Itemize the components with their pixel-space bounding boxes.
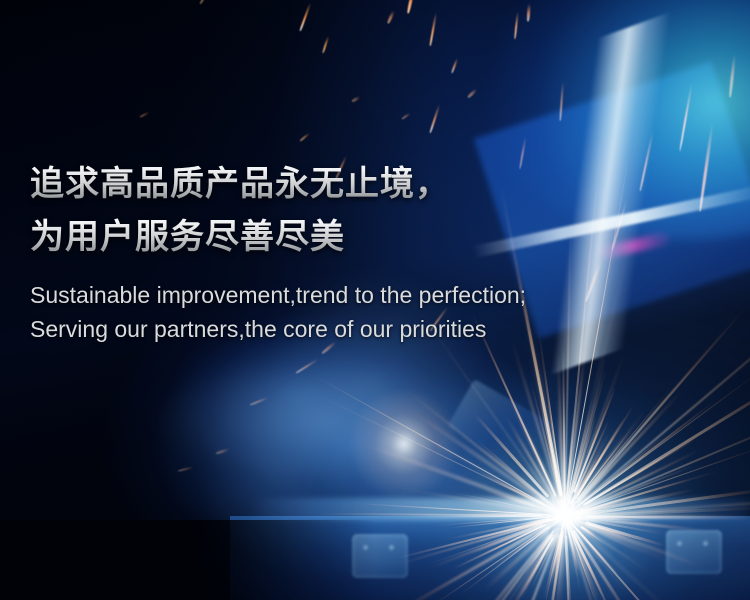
spark-streak xyxy=(140,111,150,117)
welding-arc-core xyxy=(415,365,715,600)
welding-hero-banner: 追求高品质产品永无止境， 为用户服务尽善尽美 Sustainable impro… xyxy=(0,0,750,600)
spark-streak xyxy=(216,448,230,455)
spark-streak xyxy=(401,112,411,120)
spark-streak xyxy=(322,36,330,54)
headline-en-block: Sustainable improvement,trend to the per… xyxy=(30,278,720,346)
spark-streak xyxy=(429,12,436,46)
spark-streak xyxy=(407,0,415,14)
spark-streak xyxy=(451,58,459,74)
headline-copy-block: 追求高品质产品永无止境， 为用户服务尽善尽美 Sustainable impro… xyxy=(30,158,720,346)
headline-en-line-1: Sustainable improvement,trend to the per… xyxy=(30,278,720,312)
spark-streak xyxy=(387,10,395,24)
headline-cn-line-2: 为用户服务尽善尽美 xyxy=(30,211,720,264)
spark-streak xyxy=(178,466,194,472)
spark-streak xyxy=(351,96,360,103)
spark-streak xyxy=(299,2,311,31)
headline-cn-line-1: 追求高品质产品永无止境， xyxy=(30,158,720,211)
spark-streak xyxy=(199,0,211,4)
spark-streak xyxy=(299,132,309,141)
headline-en-line-2: Serving our partners,the core of our pri… xyxy=(30,312,720,346)
